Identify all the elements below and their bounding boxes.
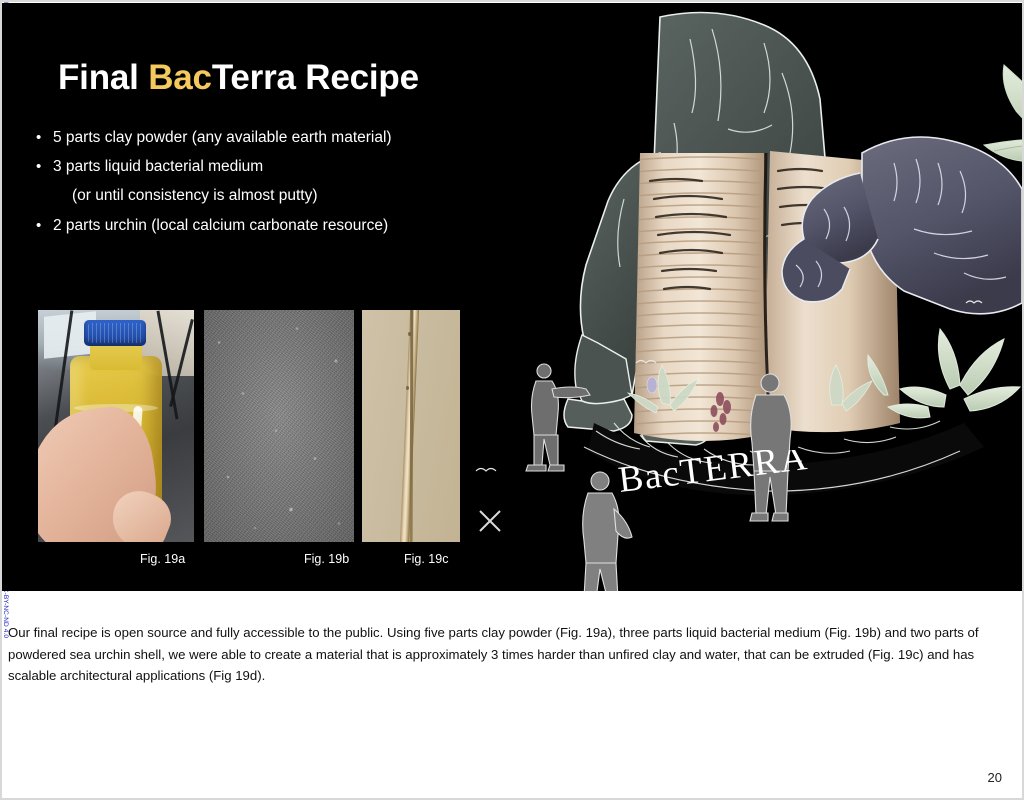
title-prefix: Final (58, 58, 148, 97)
figure-19c-photo (362, 310, 460, 542)
bullet-marker-icon: • (36, 127, 53, 149)
bullet-item: • 2 parts urchin (local calcium carbonat… (36, 215, 476, 237)
figure-19a-photo (38, 310, 194, 542)
slide-canvas: Final BacTerra Recipe • 5 parts clay pow… (2, 3, 1022, 591)
slide-title: Final BacTerra Recipe (58, 58, 419, 98)
page-number: 20 (988, 770, 1002, 785)
purple-flower (647, 377, 657, 393)
bullet-text: 5 parts clay powder (any available earth… (53, 127, 392, 149)
bacterra-collage-illustration: BacTERRA (464, 3, 1022, 591)
bullet-marker-icon: • (36, 215, 53, 237)
blue-bottle-cap (84, 320, 146, 346)
recipe-bullet-list: • 5 parts clay powder (any available ear… (36, 127, 476, 244)
bullet-subitem: (or until consistency is almost putty) (72, 185, 476, 207)
title-accent-bac: Bac (148, 58, 212, 97)
bullet-marker-icon: • (36, 156, 53, 178)
bullet-item: • 3 parts liquid bacterial medium (36, 156, 476, 178)
figure-19b-photo (204, 310, 354, 542)
bullet-text: 2 parts urchin (local calcium carbonate … (53, 215, 388, 237)
powder-vignette (204, 310, 354, 542)
document-page: https://doi.org/10.1101/2024.06.20.59979… (0, 0, 1024, 800)
figure-caption-19b: Fig. 19b (304, 552, 349, 566)
bullet-item: • 5 parts clay powder (any available ear… (36, 127, 476, 149)
figure-caption-19c: Fig. 19c (404, 552, 448, 566)
figure-caption-19a: Fig. 19a (140, 552, 185, 566)
bacterra-wordmark-text: BacTERRA (616, 450, 810, 501)
caption-paragraph: Our final recipe is open source and full… (8, 622, 1014, 687)
page-border-top (0, 0, 1024, 2)
bacterra-wordmark: BacTERRA (614, 450, 864, 510)
title-suffix: Terra Recipe (212, 58, 419, 97)
bullet-text: (or until consistency is almost putty) (72, 185, 318, 207)
bullet-text: 3 parts liquid bacterial medium (53, 156, 263, 178)
